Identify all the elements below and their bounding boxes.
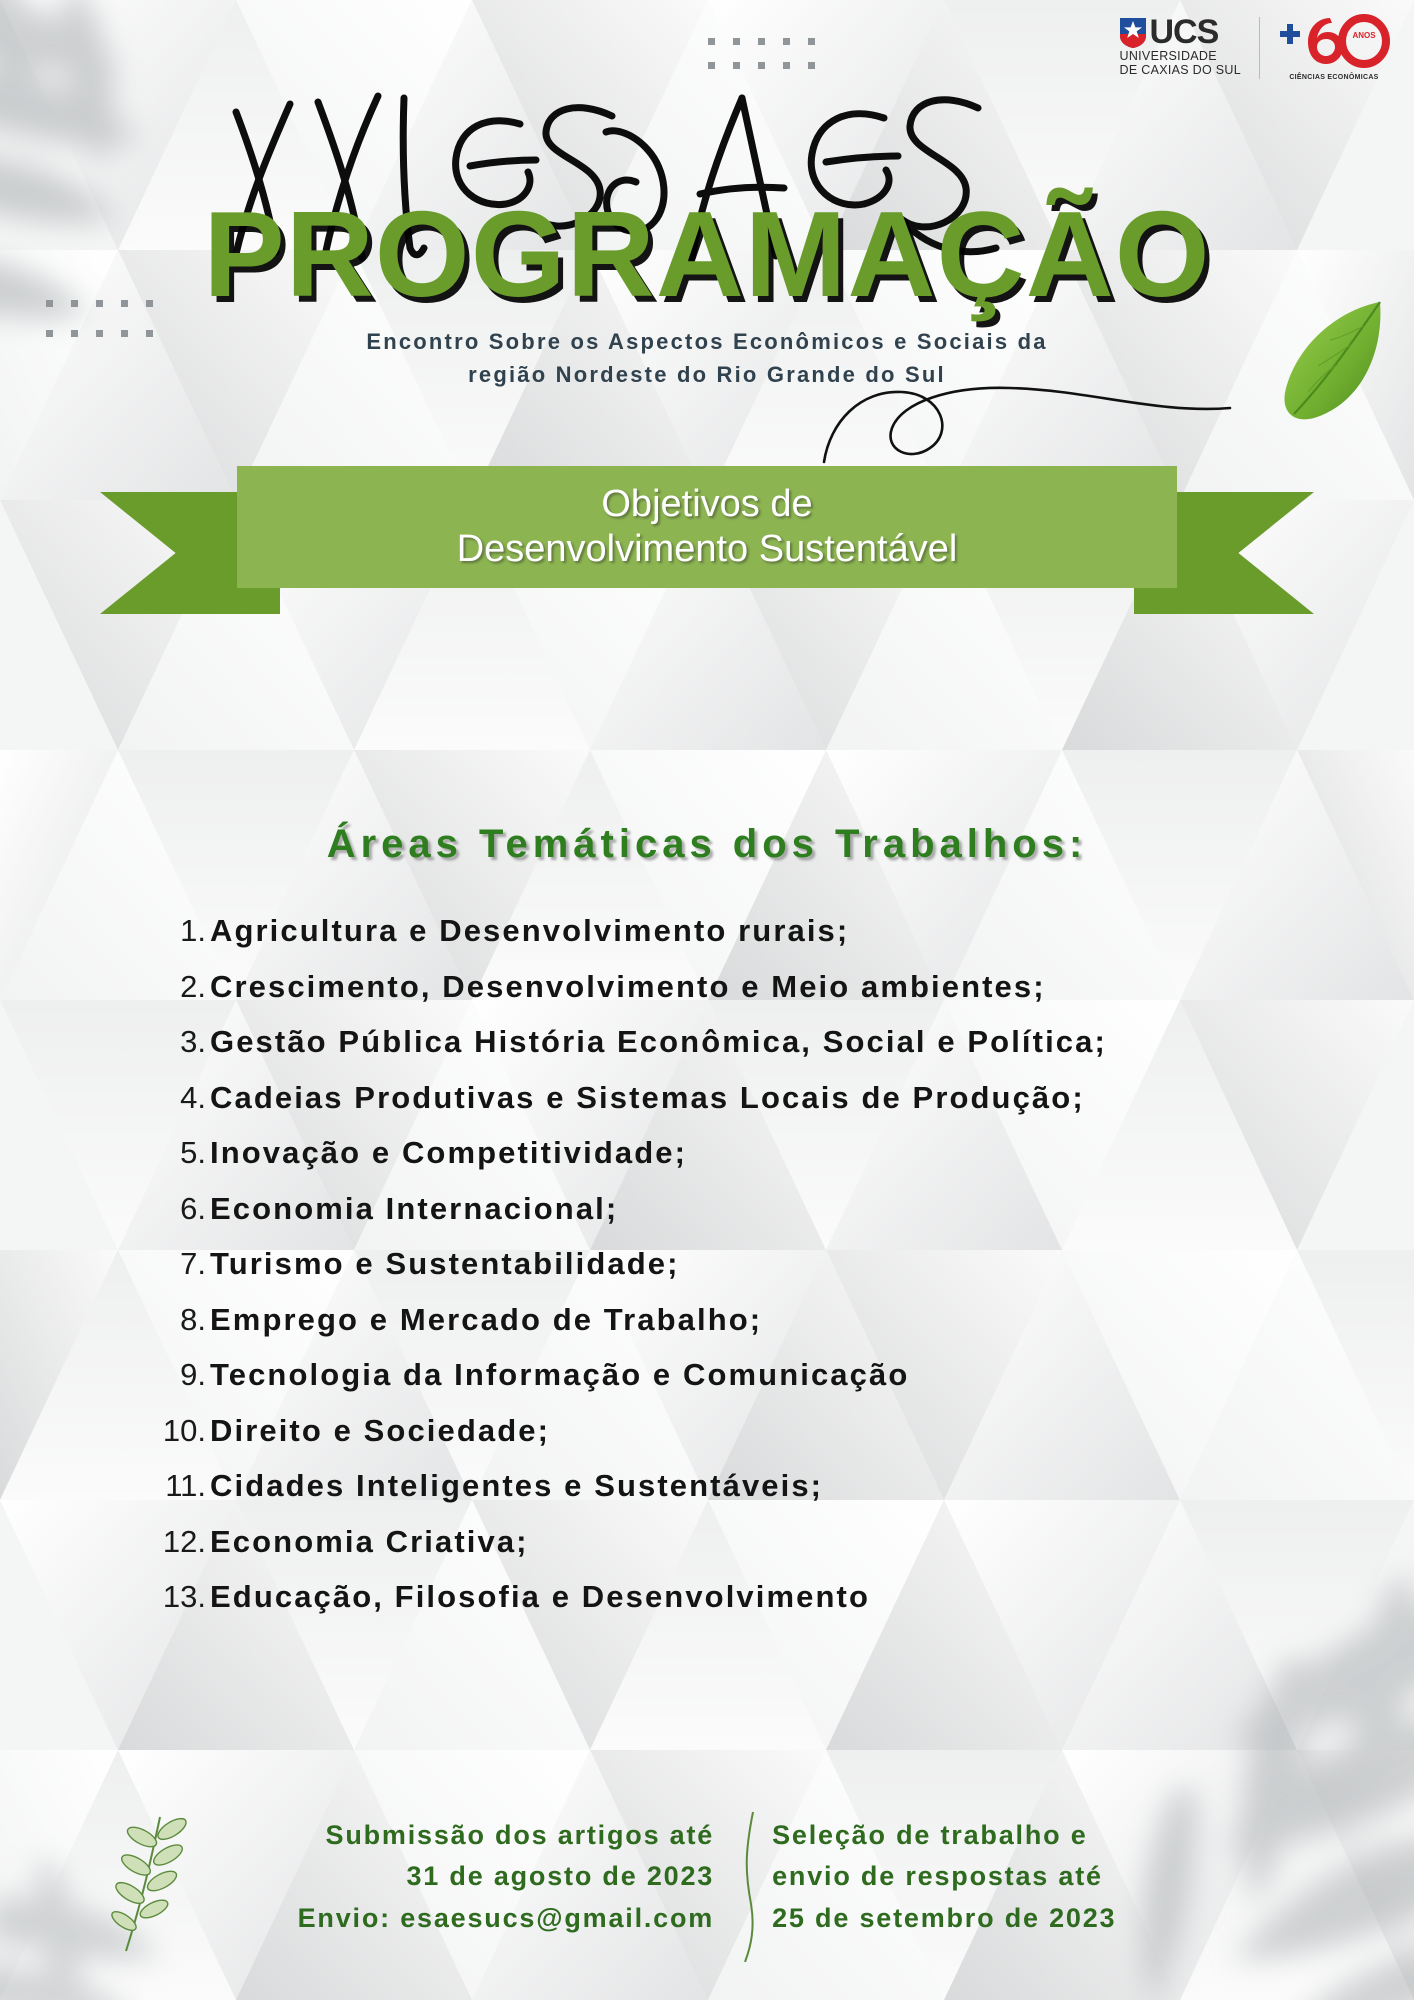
list-item: 9. Tecnologia da Informação e Comunicaçã… — [140, 1354, 1280, 1396]
logo-divider — [1259, 17, 1260, 79]
ribbon-line-1: Objetivos de — [457, 482, 958, 527]
list-item-number: 12. — [140, 1521, 210, 1563]
list-item-number: 6. — [140, 1188, 210, 1230]
ucs-logo: UCS UNIVERSIDADE DE CAXIAS DO SUL — [1120, 17, 1242, 77]
footer-right-line-2: envio de respostas até — [772, 1856, 1116, 1897]
list-item: 3. Gestão Pública História Econômica, So… — [140, 1021, 1280, 1063]
list-item-label: Cidades Inteligentes e Sustentáveis; — [210, 1465, 823, 1507]
list-item-number: 10. — [140, 1410, 210, 1452]
list-item-label: Tecnologia da Informação e Comunicação — [210, 1354, 909, 1396]
ucs-wordmark: UCS — [1150, 17, 1219, 48]
footer-left-line-1: Submissão dos artigos até — [298, 1815, 714, 1856]
ribbon-body: Objetivos de Desenvolvimento Sustentável — [237, 466, 1177, 588]
page-title: PROGRAMAÇÃO — [0, 193, 1414, 315]
ucs-shield-icon — [1120, 18, 1146, 48]
list-item-label: Educação, Filosofia e Desenvolvimento — [210, 1576, 870, 1618]
poster-canvas: UCS UNIVERSIDADE DE CAXIAS DO SUL A — [0, 0, 1414, 2000]
decorative-dots-top-row2 — [708, 62, 815, 69]
list-item: 2. Crescimento, Desenvolvimento e Meio a… — [140, 966, 1280, 1008]
list-item-label: Cadeias Produtivas e Sistemas Locais de … — [210, 1077, 1085, 1119]
list-item-number: 5. — [140, 1132, 210, 1174]
list-item-number: 11. — [140, 1465, 210, 1507]
list-item-number: 7. — [140, 1243, 210, 1285]
list-item-number: 9. — [140, 1354, 210, 1396]
ribbon-line-2: Desenvolvimento Sustentável — [457, 527, 958, 572]
list-item: 13. Educação, Filosofia e Desenvolviment… — [140, 1576, 1280, 1618]
list-item-number: 1. — [140, 910, 210, 952]
green-leaf-icon — [1268, 296, 1388, 431]
list-item-label: Direito e Sociedade; — [210, 1410, 550, 1452]
list-item: 6. Economia Internacional; — [140, 1188, 1280, 1230]
ribbon-banner: Objetivos de Desenvolvimento Sustentável — [100, 466, 1314, 614]
section-heading-areas-tematicas: Áreas Temáticas dos Trabalhos: — [0, 822, 1414, 867]
ucs-name-line1: UNIVERSIDADE — [1120, 50, 1217, 64]
footer-right-line-3: 25 de setembro de 2023 — [772, 1898, 1116, 1939]
anniversary-logo: ANOS CIÊNCIAS ECONÔMICAS — [1278, 14, 1390, 81]
list-item: 11. Cidades Inteligentes e Sustentáveis; — [140, 1465, 1280, 1507]
list-item: 5. Inovação e Competitividade; — [140, 1132, 1280, 1174]
footer-selection-column: Seleção de trabalho e envio de respostas… — [744, 1815, 1116, 1938]
footer-submission-column: Submissão dos artigos até 31 de agosto d… — [298, 1815, 742, 1938]
list-item-number: 3. — [140, 1021, 210, 1063]
list-item: 1. Agricultura e Desenvolvimento rurais; — [140, 910, 1280, 952]
list-item: 4. Cadeias Produtivas e Sistemas Locais … — [140, 1077, 1280, 1119]
list-item: 8. Emprego e Mercado de Trabalho; — [140, 1299, 1280, 1341]
list-item-label: Economia Criativa; — [210, 1521, 529, 1563]
list-item: 12. Economia Criativa; — [140, 1521, 1280, 1563]
list-item: 7. Turismo e Sustentabilidade; — [140, 1243, 1280, 1285]
footer-deadlines: Submissão dos artigos até 31 de agosto d… — [0, 1812, 1414, 1942]
list-item-label: Inovação e Competitividade; — [210, 1132, 687, 1174]
themes-list: 1. Agricultura e Desenvolvimento rurais;… — [140, 910, 1280, 1632]
list-item-number: 13. — [140, 1576, 210, 1618]
list-item-label: Turismo e Sustentabilidade; — [210, 1243, 680, 1285]
decorative-dots-top-row1 — [708, 38, 815, 45]
list-item-number: 4. — [140, 1077, 210, 1119]
list-item-label: Crescimento, Desenvolvimento e Meio ambi… — [210, 966, 1046, 1008]
anniversary-caption: CIÊNCIAS ECONÔMICAS — [1289, 74, 1378, 81]
list-item-label: Economia Internacional; — [210, 1188, 618, 1230]
subtitle-line-1: Encontro Sobre os Aspectos Econômicos e … — [0, 325, 1414, 358]
list-item: 10. Direito e Sociedade; — [140, 1410, 1280, 1452]
list-item-number: 2. — [140, 966, 210, 1008]
list-item-label: Emprego e Mercado de Trabalho; — [210, 1299, 762, 1341]
footer-right-line-1: Seleção de trabalho e — [772, 1815, 1116, 1856]
list-item-label: Agricultura e Desenvolvimento rurais; — [210, 910, 849, 952]
list-item-label: Gestão Pública História Econômica, Socia… — [210, 1021, 1107, 1063]
anniversary-60-icon: ANOS — [1278, 14, 1390, 73]
footer-email[interactable]: Envio: esaesucs@gmail.com — [298, 1898, 714, 1939]
footer-left-line-2: 31 de agosto de 2023 — [298, 1856, 714, 1897]
svg-text:ANOS: ANOS — [1352, 31, 1376, 40]
logo-bar: UCS UNIVERSIDADE DE CAXIAS DO SUL A — [1120, 14, 1391, 81]
list-item-number: 8. — [140, 1299, 210, 1341]
ucs-name-line2: DE CAXIAS DO SUL — [1120, 64, 1242, 78]
